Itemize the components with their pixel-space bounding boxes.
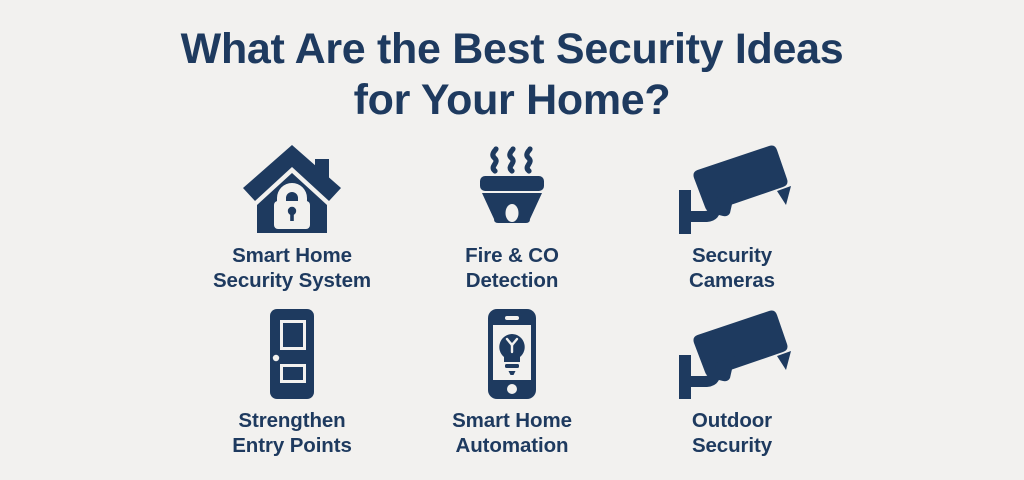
page-title: What Are the Best Security Ideas for You… [132, 0, 892, 125]
grid-item-label: Smart Home Security System [213, 243, 371, 293]
grid-item-security-cameras: Security Cameras [622, 139, 842, 304]
grid-item-smart-home-security-system: Smart Home Security System [182, 139, 402, 304]
label-line-2: Cameras [689, 268, 775, 293]
grid-item-label: Fire & CO Detection [465, 243, 559, 293]
label-line-1: Smart Home [213, 243, 371, 268]
label-line-2: Security [692, 433, 772, 458]
infographic-poster: What Are the Best Security Ideas for You… [0, 0, 1024, 480]
door-icon [257, 304, 327, 400]
house-lock-icon [241, 139, 343, 235]
label-line-2: Security System [213, 268, 371, 293]
page-title-line-1: What Are the Best Security Ideas [132, 24, 892, 75]
label-line-1: Security [689, 243, 775, 268]
grid-item-outdoor-security: Outdoor Security [622, 304, 842, 469]
smoke-detector-icon [469, 139, 555, 235]
grid-item-smart-home-automation: Smart Home Automation [402, 304, 622, 469]
grid-item-label: Outdoor Security [692, 408, 772, 458]
label-line-1: Strengthen [232, 408, 352, 433]
label-line-2: Automation [452, 433, 572, 458]
smartphone-bulb-icon [479, 304, 545, 400]
grid-item-label: Security Cameras [689, 243, 775, 293]
cctv-camera-icon [673, 139, 791, 235]
grid-item-fire-co-detection: Fire & CO Detection [402, 139, 622, 304]
label-line-2: Detection [465, 268, 559, 293]
label-line-1: Fire & CO [465, 243, 559, 268]
grid-item-strengthen-entry-points: Strengthen Entry Points [182, 304, 402, 469]
label-line-1: Smart Home [452, 408, 572, 433]
label-line-1: Outdoor [692, 408, 772, 433]
label-line-2: Entry Points [232, 433, 352, 458]
security-ideas-grid: Smart Home Security System F [182, 139, 842, 469]
page-title-line-2: for Your Home? [132, 75, 892, 126]
grid-item-label: Strengthen Entry Points [232, 408, 352, 458]
cctv-camera-icon [673, 304, 791, 400]
grid-item-label: Smart Home Automation [452, 408, 572, 458]
